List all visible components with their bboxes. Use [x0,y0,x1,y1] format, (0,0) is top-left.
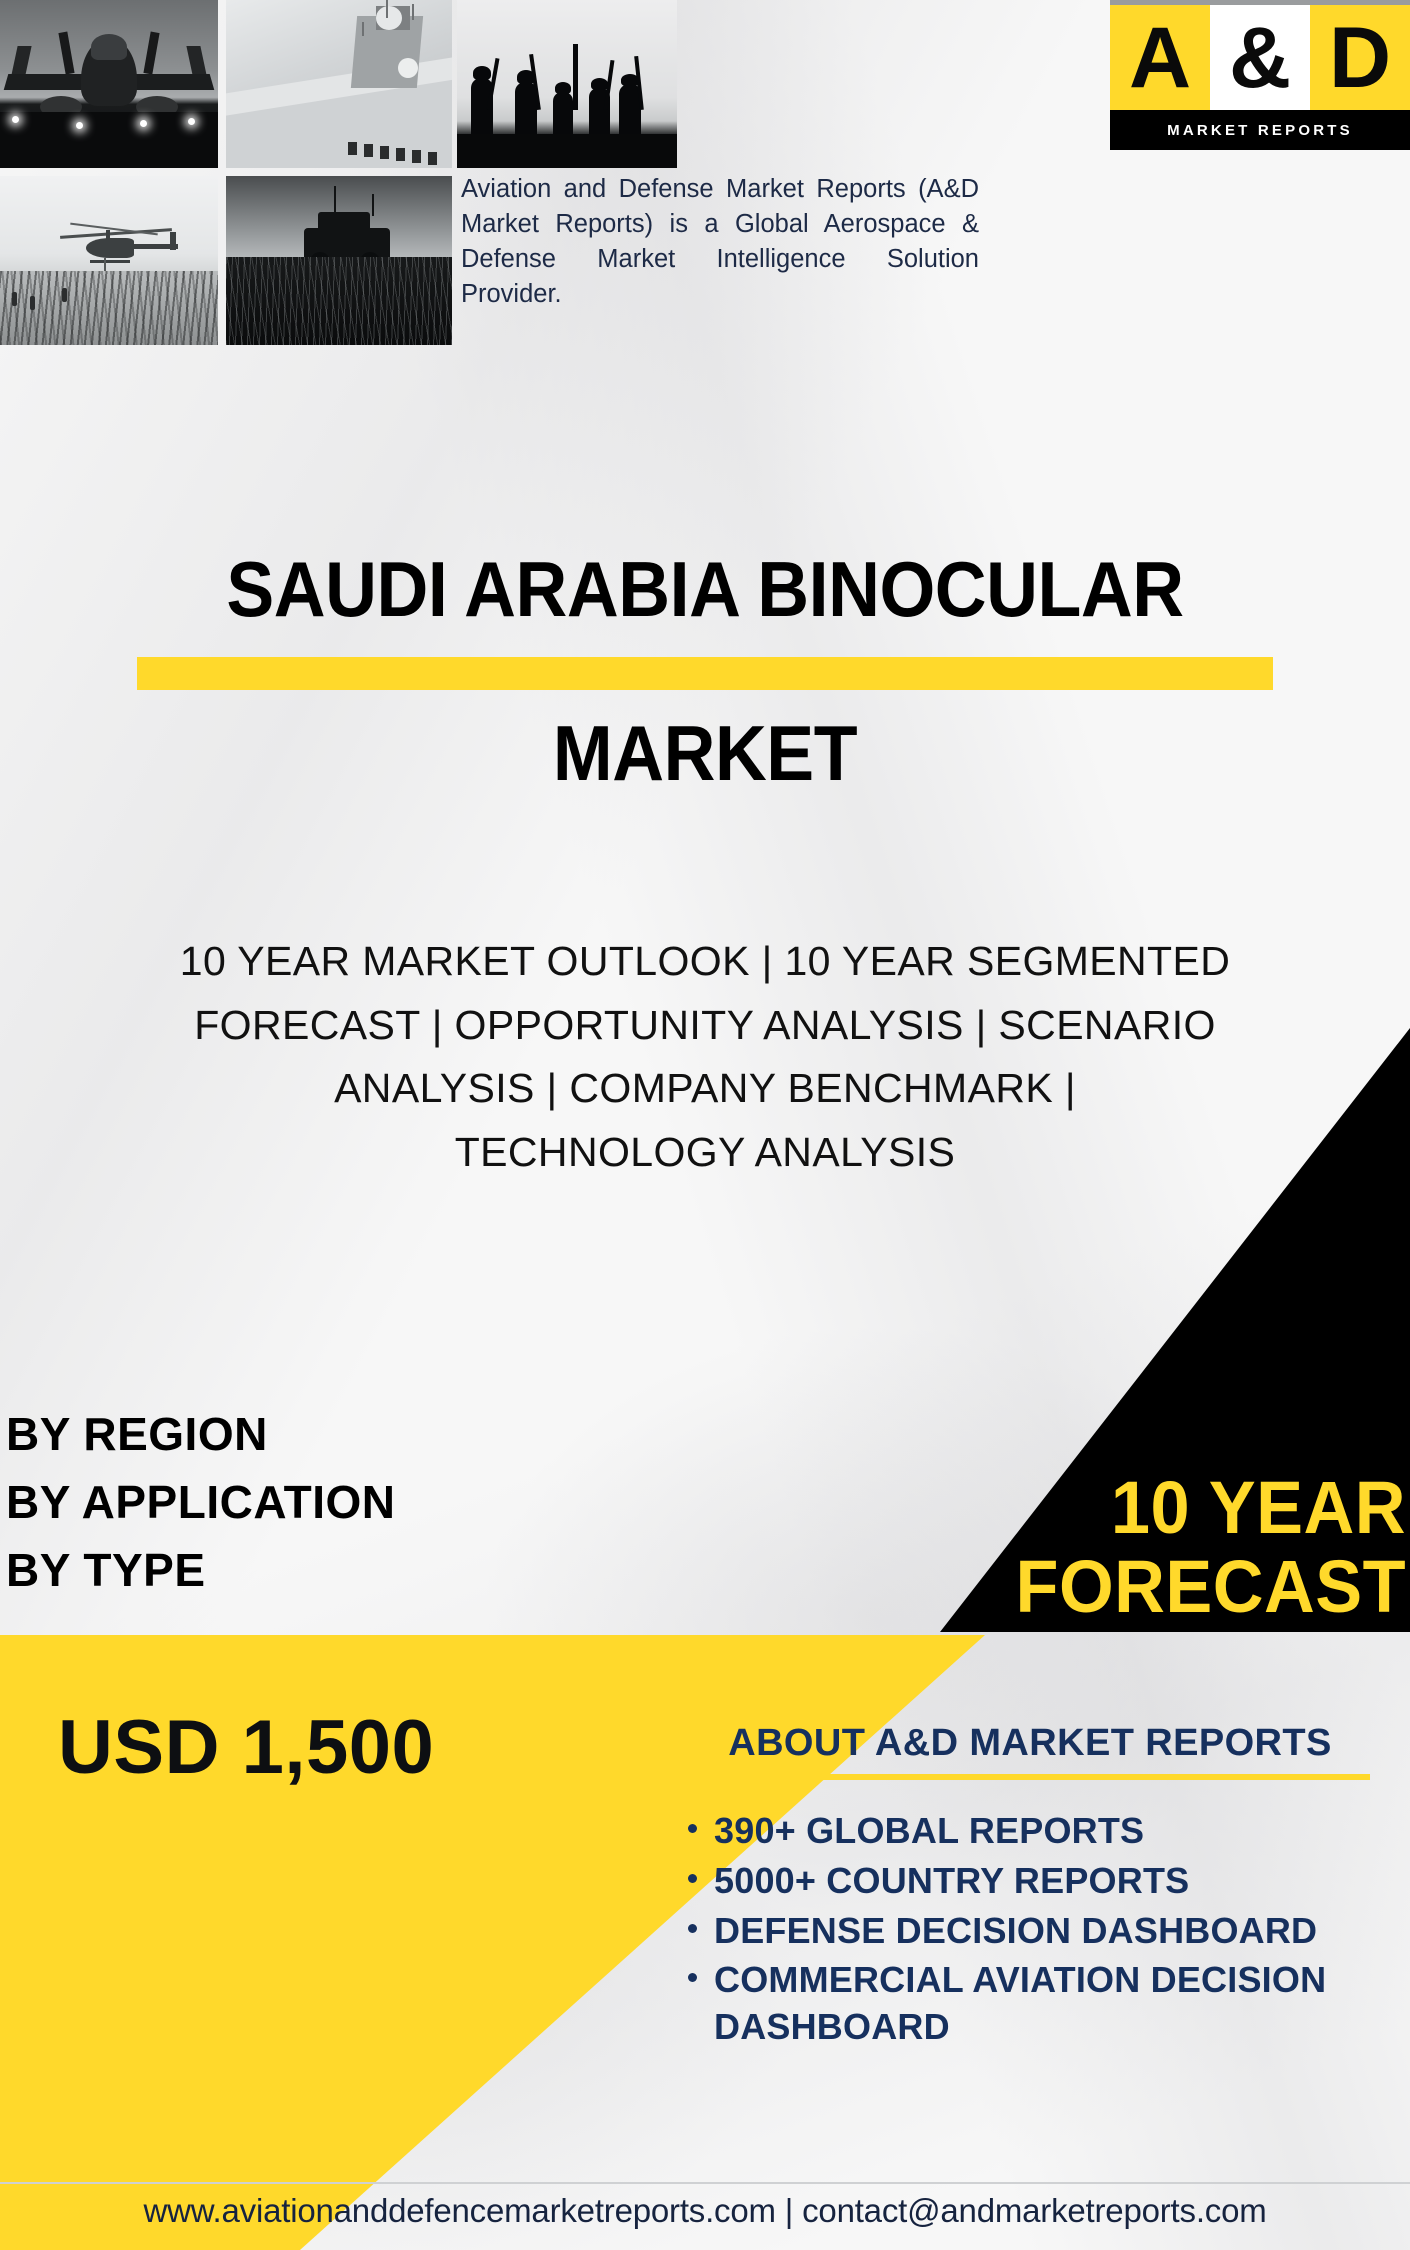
photo-fighter-jet [0,0,218,168]
about-item-label: 5000+ COUNTRY REPORTS [714,1860,1189,1901]
about-bullet-list: 390+ GLOBAL REPORTS 5000+ COUNTRY REPORT… [660,1808,1400,2051]
forecast-badge: 10 YEAR FORECAST [806,1468,1406,1626]
about-yellow-underline [690,1774,1370,1780]
photo-aircraft-carrier [226,0,452,168]
logo-cell-a: A [1110,5,1210,110]
forecast-line-1: 10 YEAR [836,1468,1406,1547]
about-item-label: 390+ GLOBAL REPORTS [714,1810,1144,1851]
bullet-icon [688,1924,697,1933]
report-title: SAUDI ARABIA BINOCULAR MARKET [0,548,1410,794]
logo-tagline: MARKET REPORTS [1167,122,1353,139]
subtitle-line-4: TECHNOLOGY ANALYSIS [40,1121,1370,1185]
about-item-label: COMMERCIAL AVIATION DECISION DASHBOARD [714,1959,1326,2047]
about-list-item: DEFENSE DECISION DASHBOARD [714,1908,1400,1955]
about-list-item: 5000+ COUNTRY REPORTS [714,1858,1400,1905]
logo-letter-row: A & D [1110,5,1410,110]
about-heading: ABOUT A&D MARKET REPORTS [660,1722,1400,1765]
bullet-icon [688,1824,697,1833]
segmentation-list: BY REGION BY APPLICATION BY TYPE [6,1400,396,1604]
subtitle-line-1: 10 YEAR MARKET OUTLOOK | 10 YEAR SEGMENT… [40,930,1370,994]
photo-armored-vehicle [226,176,452,345]
logo-cell-d: D [1310,5,1410,110]
footer-divider [0,2182,1410,2184]
report-features-subtitle: 10 YEAR MARKET OUTLOOK | 10 YEAR SEGMENT… [40,930,1370,1184]
photo-grid [0,0,452,345]
company-intro-paragraph: Aviation and Defense Market Reports (A&D… [461,172,979,312]
logo-letter-a: A [1129,15,1191,101]
subtitle-line-3: ANALYSIS | COMPANY BENCHMARK | [40,1057,1370,1121]
poster-root: A & D MARKET REPORTS Aviation and Defens… [0,0,1410,2250]
logo-tagline-bar: MARKET REPORTS [1110,110,1410,150]
price-value: USD 1,500 [58,1710,434,1786]
forecast-line-2: FORECAST [836,1547,1406,1626]
title-yellow-rule [137,657,1273,690]
photo-helicopter [0,176,218,345]
footer-contact[interactable]: www.aviationanddefencemarketreports.com … [0,2192,1410,2230]
report-title-line-1: SAUDI ARABIA BINOCULAR [56,548,1353,631]
report-title-line-2: MARKET [56,712,1353,795]
segment-item-region: BY REGION [6,1400,396,1468]
photo-soldiers-silhouette [457,0,677,168]
about-item-label: DEFENSE DECISION DASHBOARD [714,1910,1317,1951]
logo-letter-ampersand: & [1229,15,1291,101]
about-section: ABOUT A&D MARKET REPORTS 390+ GLOBAL REP… [660,1722,1400,2054]
segment-item-application: BY APPLICATION [6,1468,396,1536]
subtitle-line-2: FORECAST | OPPORTUNITY ANALYSIS | SCENAR… [40,994,1370,1058]
about-list-item: 390+ GLOBAL REPORTS [714,1808,1400,1855]
brand-logo[interactable]: A & D MARKET REPORTS [1110,0,1410,150]
logo-letter-d: D [1329,15,1391,101]
bullet-icon [688,1874,697,1883]
segment-item-type: BY TYPE [6,1536,396,1604]
about-list-item: COMMERCIAL AVIATION DECISION DASHBOARD [714,1957,1400,2051]
logo-cell-ampersand: & [1210,5,1310,110]
bullet-icon [688,1973,697,1982]
